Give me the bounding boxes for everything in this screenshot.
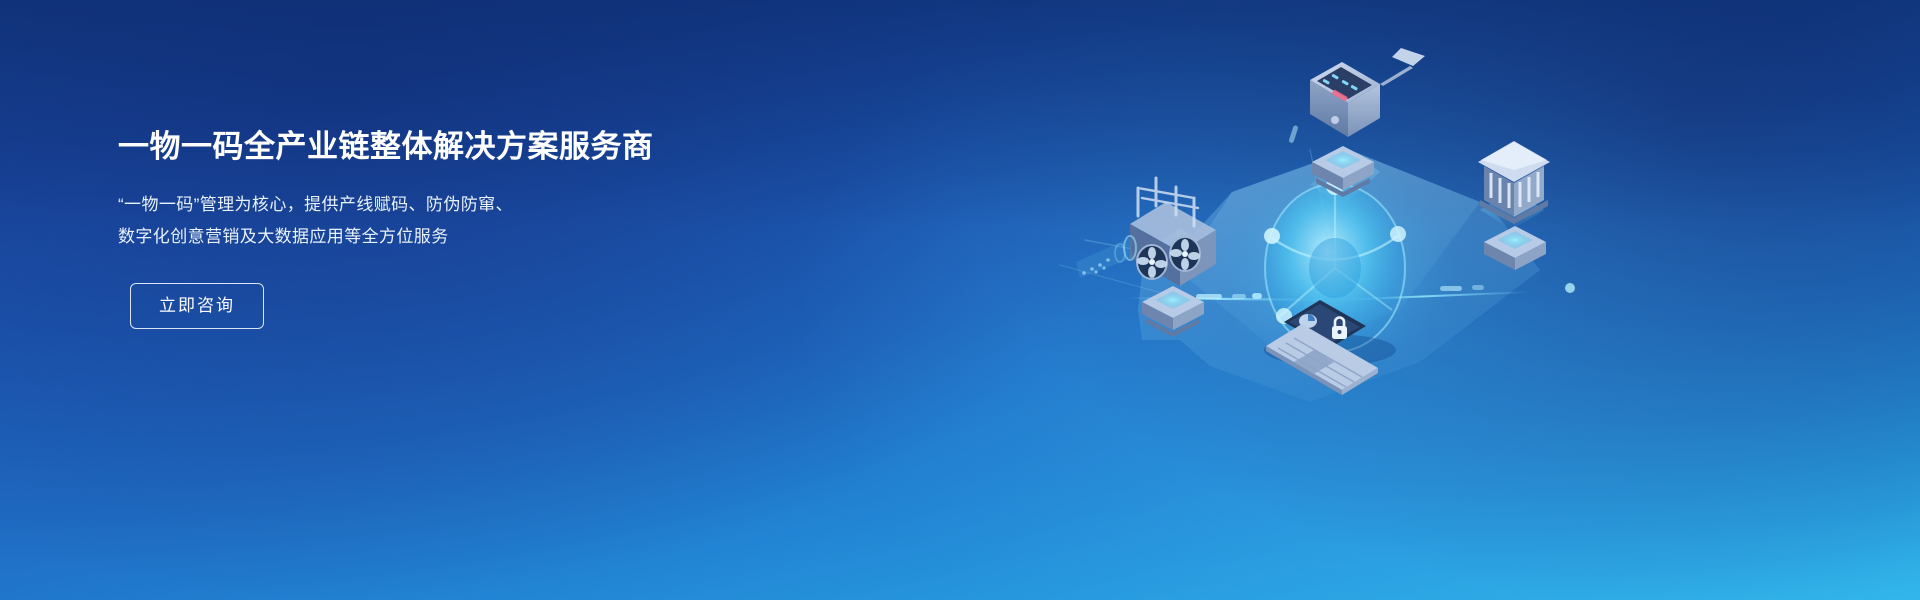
hero-subtitle: “一物一码”管理为核心，提供产线赋码、防伪防窜、 数字化创意营销及大数据应用等全…: [118, 189, 738, 253]
subtitle-line-2: 数字化创意营销及大数据应用等全方位服务: [118, 221, 738, 253]
hero-banner: 一物一码全产业链整体解决方案服务商 “一物一码”管理为核心，提供产线赋码、防伪防…: [0, 0, 1920, 600]
rack-body: [1076, 178, 1216, 286]
hero-copy: 一物一码全产业链整体解决方案服务商 “一物一码”管理为核心，提供产线赋码、防伪防…: [118, 128, 738, 329]
bank-building-icon: [1478, 141, 1550, 270]
scan-beam: [1076, 236, 1136, 278]
server-rack-icon: [1076, 178, 1216, 337]
pos-body: [1310, 48, 1425, 137]
page-title: 一物一码全产业链整体解决方案服务商: [118, 128, 738, 167]
edge-node-dot: [1565, 283, 1575, 293]
isometric-illustration: [880, 10, 1580, 430]
consult-now-button[interactable]: 立即咨询: [130, 283, 264, 329]
subtitle-line-1: “一物一码”管理为核心，提供产线赋码、防伪防窜、: [118, 189, 738, 221]
